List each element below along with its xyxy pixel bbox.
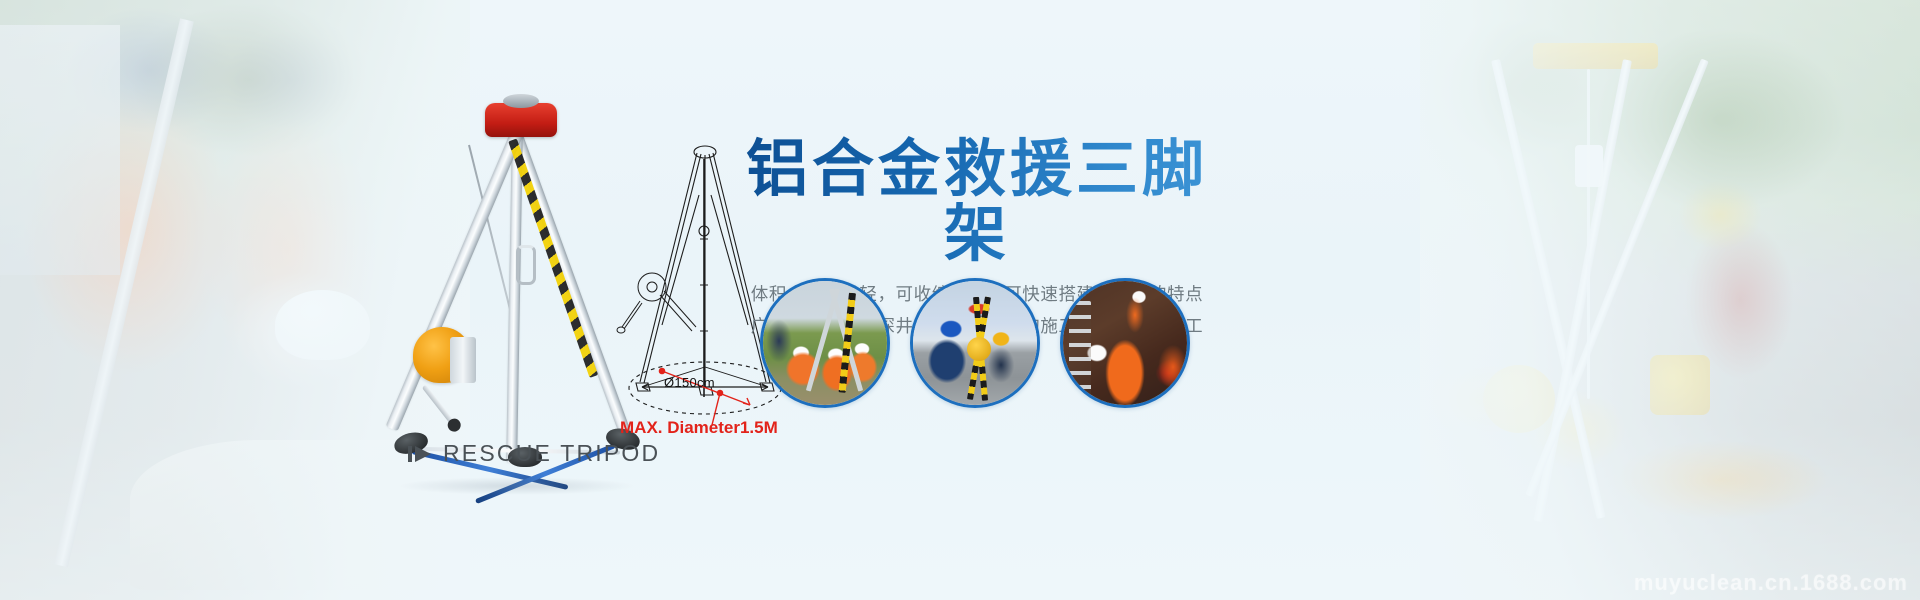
product-caption: RESCUE TRIPOD	[408, 440, 660, 467]
industrial-site-tripod-setup-image	[913, 281, 1037, 405]
product-leg-right	[386, 122, 527, 431]
product-red-head	[485, 103, 557, 137]
field-rescue-tripod-drill-image	[763, 281, 887, 405]
diagram-max-diameter-note: MAX. Diameter1.5M	[620, 418, 778, 438]
diagram-dimension-label: Ø150cm	[664, 375, 715, 390]
product-winch-crank	[422, 385, 455, 426]
right-photo-fade	[1420, 0, 1920, 600]
application-photo-row	[760, 278, 1190, 408]
background-photo-right	[1420, 0, 1920, 600]
photo3-ladder	[1069, 301, 1091, 401]
product-caption-text: RESCUE TRIPOD	[443, 440, 660, 467]
application-photo-1[interactable]	[760, 278, 890, 408]
application-photo-2[interactable]	[910, 278, 1040, 408]
application-photo-3[interactable]	[1060, 278, 1190, 408]
product-banner: Ø150cm MAX. Diameter1.5M RESCUE TRIPOD 铝…	[0, 0, 1920, 600]
confined-space-shaft-rescue-image	[1063, 281, 1187, 405]
page-title: 铝合金救援三脚架	[742, 136, 1212, 266]
site-watermark: muyuclean.cn.1688.com	[1634, 570, 1908, 596]
play-triangle-icon	[408, 444, 432, 464]
product-winch-bracket	[450, 337, 476, 383]
photo2-tripod	[965, 297, 1001, 401]
product-carabiner-icon	[516, 245, 536, 285]
product-shadow	[396, 477, 636, 495]
photo1-tripod	[805, 285, 869, 395]
